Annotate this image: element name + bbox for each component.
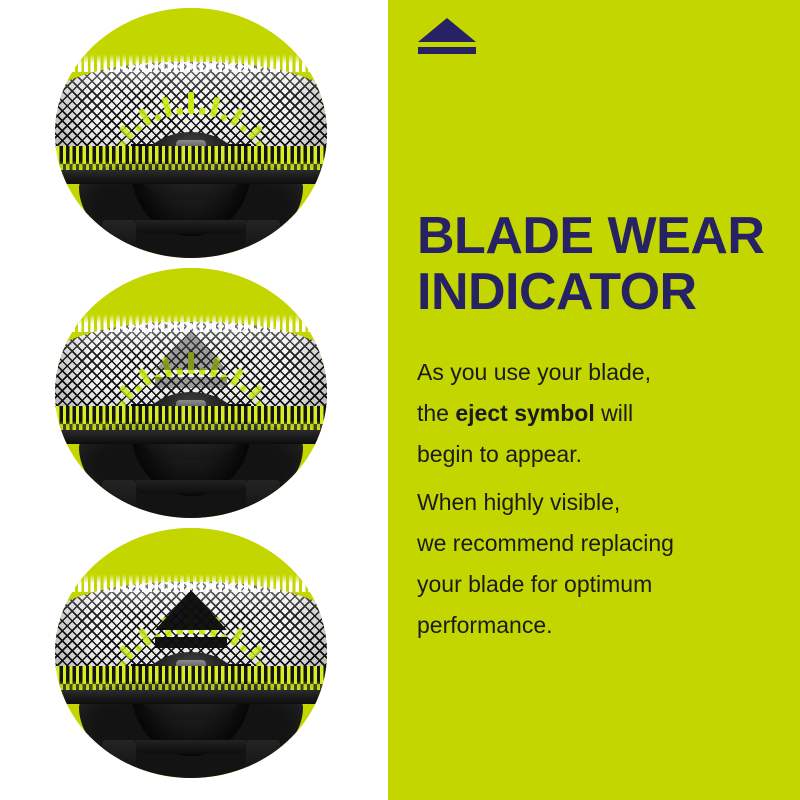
eject-bar — [155, 637, 227, 648]
housing-leg-bridge — [136, 220, 246, 234]
paragraph-2-line-2: we recommend replacing — [417, 523, 787, 564]
blade-metal-lip — [55, 690, 327, 704]
blade-metal-lip — [55, 430, 327, 444]
blade-metal-lip — [55, 170, 327, 184]
circle-mask — [55, 528, 327, 778]
eject-triangle — [155, 330, 227, 370]
paragraph-2-line-1: When highly visible, — [417, 482, 787, 523]
blade-assembly — [55, 8, 327, 258]
product-shot-worn-blade — [55, 528, 327, 778]
housing-leg-bridge — [136, 740, 246, 754]
blade-cutting-head — [55, 570, 327, 684]
housing-leg-left — [102, 740, 136, 778]
paragraph-1-line-3: begin to appear. — [417, 434, 787, 475]
circle-mask — [55, 268, 327, 518]
paragraph-1-line-2-before: the — [417, 400, 455, 426]
eject-icon-bar — [418, 47, 476, 54]
copy-panel: BLADE WEAR INDICATOR As you use your bla… — [388, 0, 800, 800]
housing-leg-right — [246, 220, 280, 258]
product-shot-partially-worn-blade — [55, 268, 327, 518]
comb-teeth-top — [55, 314, 327, 332]
circle-backdrop — [55, 8, 327, 258]
comb-teeth-top — [55, 54, 327, 72]
blade-eject-symbol — [155, 590, 227, 648]
housing-leg-right — [246, 740, 280, 778]
housing-leg-left — [102, 220, 136, 258]
headline-line-1: BLADE WEAR — [417, 207, 764, 265]
comb-teeth-top — [55, 574, 327, 592]
housing-leg-left — [102, 480, 136, 518]
eject-symbol-emphasis: eject symbol — [455, 400, 594, 426]
paragraph-1-line-2-after: will — [595, 400, 633, 426]
circle-backdrop — [55, 528, 327, 778]
blade-assembly — [55, 268, 327, 518]
eject-icon-triangle — [418, 18, 476, 42]
blade-cutting-head — [55, 310, 327, 424]
headline-line-2: INDICATOR — [417, 263, 697, 321]
paragraph-1-line-1: As you use your blade, — [417, 352, 787, 393]
blade-eject-symbol — [155, 330, 227, 388]
eject-icon — [418, 18, 476, 54]
page-title: BLADE WEAR INDICATOR — [417, 208, 797, 320]
eject-bar — [155, 377, 227, 388]
housing-legs — [102, 740, 280, 778]
body-paragraph-2: When highly visible, we recommend replac… — [417, 482, 787, 646]
housing-legs — [102, 220, 280, 258]
blade-wear-indicator-graphic: BLADE WEAR INDICATOR As you use your bla… — [0, 0, 800, 800]
body-paragraph-1: As you use your blade, the eject symbol … — [417, 352, 787, 475]
blade-cutting-head — [55, 50, 327, 164]
circle-mask — [55, 8, 327, 258]
paragraph-1-line-2: the eject symbol will — [417, 393, 787, 434]
housing-leg-right — [246, 480, 280, 518]
paragraph-2-line-3: your blade for optimum — [417, 564, 787, 605]
blade-assembly — [55, 528, 327, 778]
product-shots-panel — [0, 0, 388, 800]
product-shot-new-blade — [55, 8, 327, 258]
housing-leg-bridge — [136, 480, 246, 494]
eject-triangle — [155, 590, 227, 630]
paragraph-2-line-4: performance. — [417, 605, 787, 646]
circle-backdrop — [55, 268, 327, 518]
housing-legs — [102, 480, 280, 518]
